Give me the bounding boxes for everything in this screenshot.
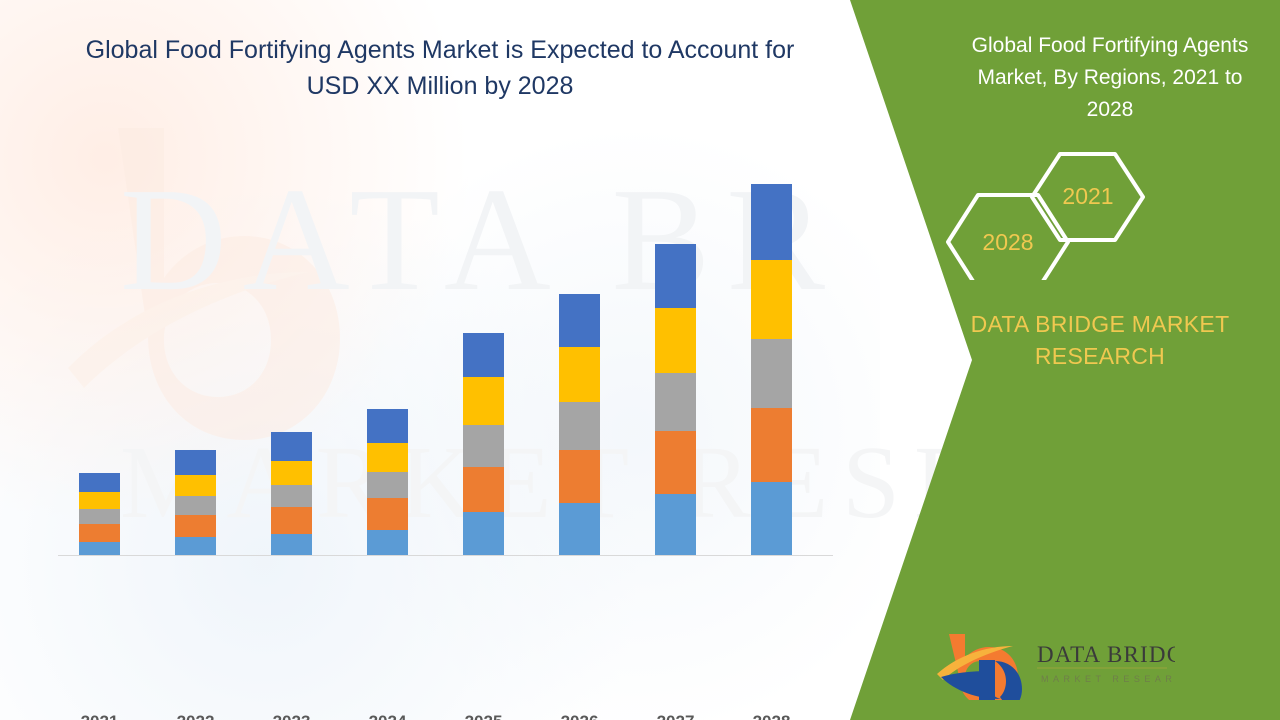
bar-2027 (655, 244, 696, 555)
bar-2025 (463, 333, 504, 555)
segment-europe-2026 (559, 450, 600, 503)
segment-europe-2021 (79, 524, 120, 542)
segment-asia-pacific-2025 (463, 425, 504, 467)
segment-asia-pacific-2022 (175, 496, 216, 515)
segment-asia-pacific-2027 (655, 373, 696, 431)
segment-south-america-2026 (559, 347, 600, 402)
segment-europe-2028 (751, 408, 792, 482)
x-axis-line (58, 555, 833, 556)
x-label-2028: 2028 (732, 712, 812, 720)
segment-asia-pacific-2023 (271, 485, 312, 507)
x-label-2022: 2022 (156, 712, 236, 720)
x-label-2024: 2024 (348, 712, 428, 720)
segment-north-america-2023 (271, 534, 312, 555)
bar-2028 (751, 184, 792, 555)
segment-south-america-2022 (175, 475, 216, 496)
segment-north-america-2027 (655, 494, 696, 555)
segment-europe-2022 (175, 515, 216, 537)
segment-south-america-2023 (271, 461, 312, 485)
x-label-2023: 2023 (252, 712, 332, 720)
segment-middle-east-and-africa-2024 (367, 409, 408, 443)
panel-title: Global Food Fortifying Agents Market, By… (960, 30, 1260, 126)
brand-name: DATA BRIDGE MARKET RESEARCH (940, 308, 1260, 372)
bar-2022 (175, 450, 216, 555)
hex-label-2021: 2021 (1058, 183, 1118, 210)
year-hexagons: 2021 2028 (820, 150, 1280, 280)
infographic-canvas: DATA BR MARKET RESEARCH Global Food Fort… (0, 0, 1280, 720)
logo-primary-text: DATA BRIDGE (1037, 642, 1175, 667)
data-bridge-logo: DATA BRIDGE MARKET RESEARCH (935, 630, 1175, 700)
x-label-2026: 2026 (540, 712, 620, 720)
x-label-2021: 2021 (60, 712, 140, 720)
segment-asia-pacific-2026 (559, 402, 600, 451)
segment-asia-pacific-2021 (79, 509, 120, 525)
segment-south-america-2024 (367, 443, 408, 472)
logo-secondary-text: MARKET RESEARCH (1041, 674, 1175, 684)
page-title: Global Food Fortifying Agents Market is … (60, 32, 820, 104)
segment-north-america-2022 (175, 537, 216, 555)
segment-south-america-2021 (79, 492, 120, 509)
segment-europe-2025 (463, 467, 504, 511)
bar-2026 (559, 294, 600, 555)
segment-south-america-2028 (751, 260, 792, 339)
x-axis-labels: 20212022202320242025202620272028 (50, 712, 840, 720)
segment-europe-2024 (367, 498, 408, 530)
segment-south-america-2025 (463, 377, 504, 425)
segment-middle-east-and-africa-2028 (751, 184, 792, 260)
segment-middle-east-and-africa-2021 (79, 473, 120, 492)
segment-europe-2023 (271, 507, 312, 533)
x-label-2027: 2027 (636, 712, 716, 720)
segment-north-america-2028 (751, 482, 792, 555)
bar-2024 (367, 409, 408, 555)
segment-asia-pacific-2028 (751, 339, 792, 408)
segment-middle-east-and-africa-2025 (463, 333, 504, 377)
bar-2021 (79, 473, 120, 555)
segment-asia-pacific-2024 (367, 472, 408, 498)
segment-middle-east-and-africa-2022 (175, 450, 216, 474)
brand-panel: Global Food Fortifying Agents Market, By… (820, 0, 1280, 720)
segment-middle-east-and-africa-2026 (559, 294, 600, 347)
b-bridge-logo-icon (937, 634, 1022, 700)
segment-north-america-2024 (367, 530, 408, 555)
segment-north-america-2025 (463, 512, 504, 555)
segment-middle-east-and-africa-2027 (655, 244, 696, 307)
plot-area (50, 140, 840, 556)
hex-label-2028: 2028 (978, 229, 1038, 256)
segment-north-america-2021 (79, 542, 120, 555)
x-label-2025: 2025 (444, 712, 524, 720)
segment-middle-east-and-africa-2023 (271, 432, 312, 461)
segment-south-america-2027 (655, 308, 696, 374)
bar-2023 (271, 432, 312, 555)
segment-north-america-2026 (559, 503, 600, 555)
stacked-bar-chart: 20212022202320242025202620272028 North A… (50, 140, 840, 560)
segment-europe-2027 (655, 431, 696, 493)
